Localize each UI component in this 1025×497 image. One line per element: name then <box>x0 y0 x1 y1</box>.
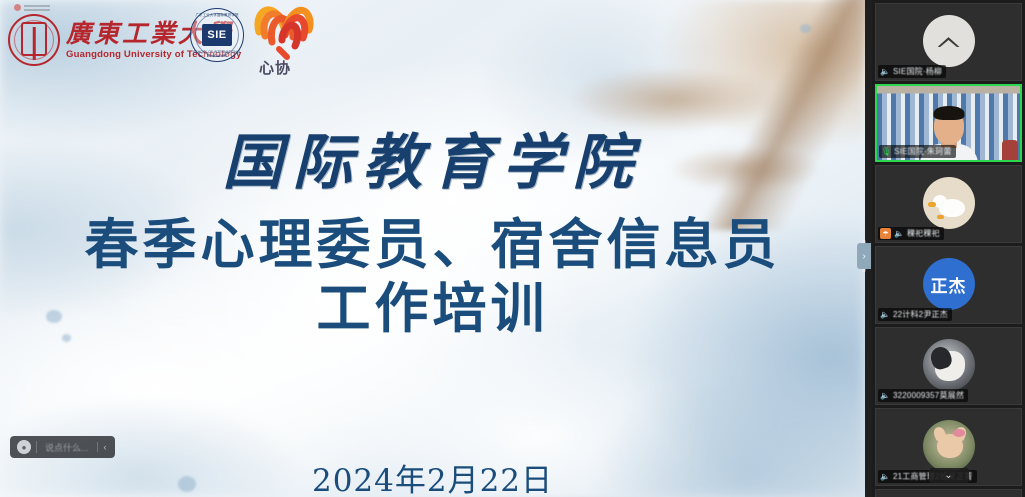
sie-logo-ring-bottom-text: SCHOOL OF INTERNATIONAL EDUCATION <box>191 50 243 58</box>
floating-chat-bar[interactable]: ● 说点什么... ‹ <box>10 436 115 458</box>
panel-collapse-handle[interactable]: › <box>857 243 871 269</box>
participant-name-badge: 🔈 22计科2尹正杰 <box>878 308 952 321</box>
xinxie-heart-logo: 心协 <box>253 2 315 80</box>
mic-off-icon: 🔈 <box>880 68 890 76</box>
webcam-chair <box>1002 140 1018 160</box>
sie-logo: 广东工业大学国际教育学院 SIE SCHOOL OF INTERNATIONAL… <box>190 8 244 62</box>
avatar <box>923 15 975 67</box>
participant-tile[interactable]: 🔈 SIE国院·杨柳 <box>875 3 1022 81</box>
meeting-window: 廣東工業大學 Guangdong University of Technolog… <box>0 0 1025 497</box>
slide-main-title: 国际教育学院 <box>0 114 865 201</box>
heart-brush-icon <box>253 2 315 62</box>
participant-name: 22计科2尹正杰 <box>893 309 948 320</box>
chevron-down-icon: ⌄ <box>944 470 952 481</box>
participant-name: SIE国院·杨柳 <box>893 66 942 77</box>
mic-off-icon: 🔈 <box>880 311 890 319</box>
slide-subtitle: 春季心理委员、宿舍信息员 工作培训 <box>0 213 865 340</box>
participant-tile[interactable]: 正杰 🔈 22计科2尹正杰 <box>875 246 1022 324</box>
slide-subtitle-line-1: 春季心理委员、宿舍信息员 <box>0 213 865 277</box>
avatar <box>923 339 975 391</box>
mic-off-icon: 🔈 <box>894 230 904 238</box>
xinxie-logo-label: 心协 <box>259 57 291 78</box>
avatar-initials: 正杰 <box>931 271 967 296</box>
shared-screen-slide[interactable]: 廣東工業大學 Guangdong University of Technolog… <box>0 0 865 497</box>
participant-name: 3220009357莫展然 <box>893 390 964 401</box>
participant-tile-partial[interactable] <box>875 489 1022 497</box>
chat-bar-collapse-icon[interactable]: ‹ <box>97 442 113 452</box>
user-avatar-icon: ● <box>17 440 31 454</box>
participant-name-badge: ☂ 🔈 稞祀稞祀 <box>878 227 944 240</box>
participant-name-badge: 🔈 3220009357莫展然 <box>878 389 968 402</box>
mic-off-icon: 🔈 <box>880 392 890 400</box>
participant-name-badge: 🔈 SIE国院·杨柳 <box>878 65 946 78</box>
avatar <box>923 177 975 229</box>
sie-logo-ring-top-text: 广东工业大学国际教育学院 <box>191 12 243 17</box>
participant-tile[interactable]: 🔈 21工商管理2班吴芷菁 ⌄ <box>875 408 1022 486</box>
host-badge-icon: ☂ <box>880 228 891 239</box>
avatar: 正杰 <box>923 258 975 310</box>
participant-tile[interactable]: 🔈 3220009357莫展然 <box>875 327 1022 405</box>
gdut-seal-icon <box>8 14 60 66</box>
filmstrip-scroll-down-button[interactable]: ⌄ <box>929 468 969 483</box>
chat-input-placeholder[interactable]: 说点什么... <box>37 441 97 454</box>
mic-off-icon: 🔈 <box>880 473 890 481</box>
participant-name: 稞祀稞祀 <box>907 228 940 239</box>
participant-name-badge: 🎙 SIE国院·朱珂蕾 <box>879 145 956 158</box>
slide-subtitle-line-2: 工作培训 <box>0 277 865 341</box>
mic-on-icon: 🎙 <box>881 148 891 156</box>
participant-name: SIE国院·朱珂蕾 <box>894 146 951 157</box>
avatar <box>923 420 975 472</box>
participant-filmstrip[interactable]: 🔈 SIE国院·杨柳 🎙 SIE国院·朱珂蕾 <box>872 0 1025 497</box>
participant-tile[interactable]: ☂ 🔈 稞祀稞祀 <box>875 165 1022 243</box>
participant-tile-active-speaker[interactable]: 🎙 SIE国院·朱珂蕾 <box>875 84 1022 162</box>
slide-date: 2024年2月22日 <box>0 455 865 497</box>
ink-speck <box>800 24 811 33</box>
chevron-up-icon <box>938 35 960 47</box>
tile-background <box>876 490 1021 497</box>
slide-logo-row: 廣東工業大學 Guangdong University of Technolog… <box>0 0 330 84</box>
